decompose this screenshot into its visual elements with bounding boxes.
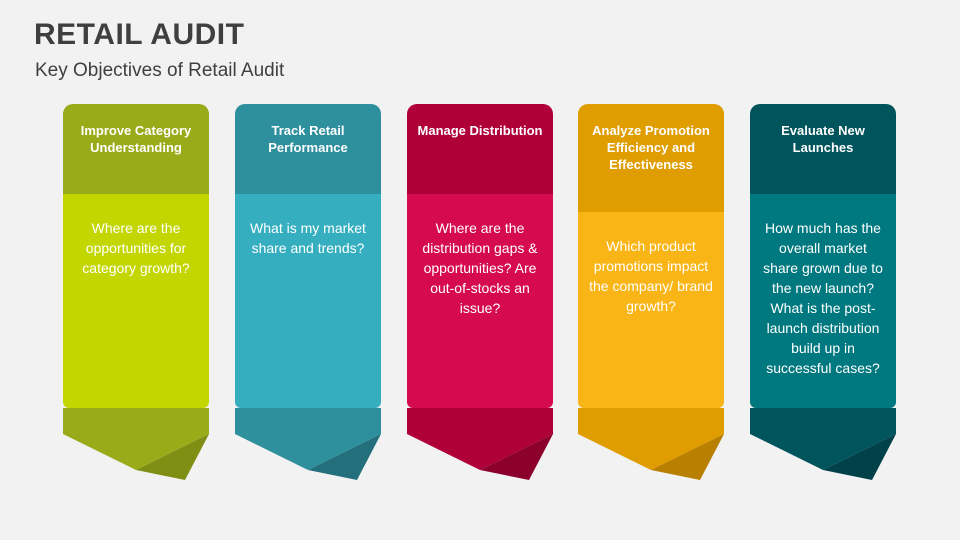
slide: RETAIL AUDIT Key Objectives of Retail Au…: [0, 0, 960, 540]
card-text-4: Which product promotions impact the comp…: [578, 212, 724, 408]
card-group: Improve Category Understanding Where are…: [0, 104, 960, 494]
page-subtitle: Key Objectives of Retail Audit: [35, 60, 284, 82]
card-body-5: Evaluate New Launches How much has the o…: [750, 104, 896, 408]
card-text-5: How much has the overall market share gr…: [750, 194, 896, 408]
objective-card-5[interactable]: Evaluate New Launches How much has the o…: [750, 104, 896, 408]
ribbon-decoration-1: [63, 408, 209, 488]
objective-card-1[interactable]: Improve Category Understanding Where are…: [63, 104, 209, 408]
card-body-1: Improve Category Understanding Where are…: [63, 104, 209, 408]
ribbon-decoration-4: [578, 408, 724, 488]
ribbon-decoration-2: [235, 408, 381, 488]
card-text-3: Where are the distribution gaps & opport…: [407, 194, 553, 408]
card-heading-4: Analyze Promotion Efficiency and Effecti…: [578, 104, 724, 212]
card-heading-5: Evaluate New Launches: [750, 104, 896, 194]
card-heading-1: Improve Category Understanding: [63, 104, 209, 194]
page-title: RETAIL AUDIT: [34, 18, 244, 52]
card-body-3: Manage Distribution Where are the distri…: [407, 104, 553, 408]
card-body-4: Analyze Promotion Efficiency and Effecti…: [578, 104, 724, 408]
ribbon-decoration-3: [407, 408, 553, 488]
objective-card-3[interactable]: Manage Distribution Where are the distri…: [407, 104, 553, 408]
card-heading-2: Track Retail Performance: [235, 104, 381, 194]
card-text-1: Where are the opportunities for category…: [63, 194, 209, 408]
objective-card-2[interactable]: Track Retail Performance What is my mark…: [235, 104, 381, 408]
ribbon-decoration-5: [750, 408, 896, 488]
card-body-2: Track Retail Performance What is my mark…: [235, 104, 381, 408]
card-text-2: What is my market share and trends?: [235, 194, 381, 408]
objective-card-4[interactable]: Analyze Promotion Efficiency and Effecti…: [578, 104, 724, 408]
card-heading-3: Manage Distribution: [407, 104, 553, 194]
